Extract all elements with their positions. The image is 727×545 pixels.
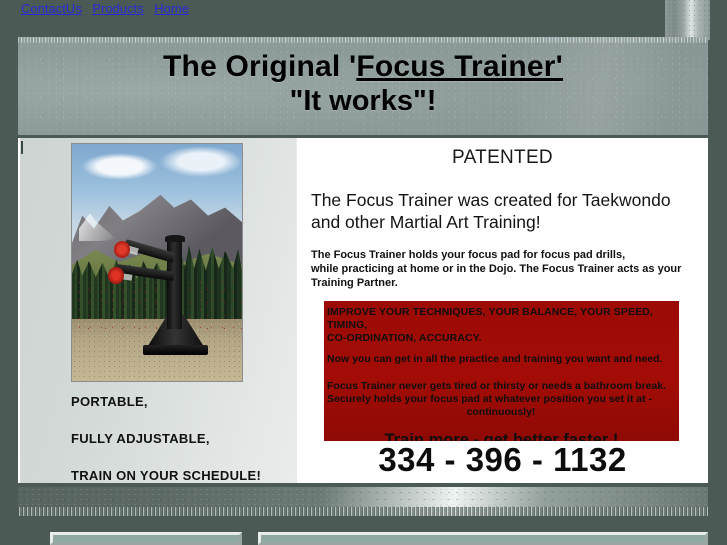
description-line2: while practicing at home or in the Dojo.… xyxy=(311,262,694,276)
product-red-focus-pad xyxy=(108,267,124,284)
feature-bullet-schedule: TRAIN ON YOUR SCHEDULE! xyxy=(71,468,291,483)
benefits-line2: CO-ORDINATION, ACCURACY. xyxy=(327,332,675,345)
benefits-line6: continuously! xyxy=(327,406,675,419)
left-content-cell: PORTABLE, FULLY ADJUSTABLE, TRAIN ON YOU… xyxy=(20,138,297,483)
benefits-block-practice: Now you can get in all the practice and … xyxy=(324,345,679,366)
product-post-cap xyxy=(165,235,185,242)
patented-label: PATENTED xyxy=(311,147,694,169)
photo-cloud xyxy=(160,146,242,177)
footer-box-left[interactable] xyxy=(50,532,242,545)
nav-link-products[interactable]: Products xyxy=(92,1,143,16)
page-title-prefix: The Original ' xyxy=(163,50,356,83)
main-content-row: PORTABLE, FULLY ADJUSTABLE, TRAIN ON YOU… xyxy=(18,138,708,483)
metal-texture-strip xyxy=(665,0,710,40)
focus-trainer-product-photo xyxy=(71,143,243,382)
product-base-plate xyxy=(143,345,208,354)
product-red-focus-pad xyxy=(114,241,130,258)
headline-line2: and other Martial Art Training! xyxy=(311,211,694,233)
benefits-line3: Now you can get in all the practice and … xyxy=(327,353,675,366)
photo-red-wildflowers xyxy=(72,277,242,334)
benefits-line4: Focus Trainer never gets tired or thirst… xyxy=(327,380,675,393)
nav-link-home[interactable]: Home xyxy=(154,1,189,16)
benefits-line5: Securely holds your focus pad at whateve… xyxy=(327,393,675,406)
bottom-metal-divider xyxy=(18,487,708,516)
page-title-line2: "It works"! xyxy=(18,85,708,118)
right-content-cell: PATENTED The Focus Trainer was created f… xyxy=(297,138,708,483)
top-navigation-bar: ContactUs Products Home xyxy=(0,0,727,36)
header-banner: The Original 'Focus Trainer' "It works"! xyxy=(18,37,708,135)
benefits-tagline: Train more - get better faster ! xyxy=(324,419,679,441)
page-title-emphasis: Focus Trainer' xyxy=(356,50,563,83)
benefits-block-reliability: Focus Trainer never gets tired or thirst… xyxy=(324,366,679,419)
description-text: The Focus Trainer holds your focus pad f… xyxy=(311,248,694,290)
headline-text: The Focus Trainer was created for Taekwo… xyxy=(311,189,694,233)
page-title-line1: The Original 'Focus Trainer' xyxy=(18,49,708,85)
photo-cloud xyxy=(82,153,157,179)
nav-links: ContactUs Products Home xyxy=(21,1,196,16)
description-line1: The Focus Trainer holds your focus pad f… xyxy=(311,248,694,262)
feature-bullet-portable: PORTABLE, xyxy=(71,394,291,409)
benefits-red-callout-box: IMPROVE YOUR TECHNIQUES, YOUR BALANCE, Y… xyxy=(324,301,679,441)
text-caret-marker xyxy=(21,141,23,154)
page-title: The Original 'Focus Trainer' "It works"! xyxy=(18,37,708,118)
footer-box-right[interactable] xyxy=(258,532,708,545)
feature-bullet-adjustable: FULLY ADJUSTABLE, xyxy=(71,431,291,446)
phone-number: 334 - 396 - 1132 xyxy=(297,441,708,479)
benefits-line1: IMPROVE YOUR TECHNIQUES, YOUR BALANCE, Y… xyxy=(327,306,675,332)
nav-link-contact-us[interactable]: ContactUs xyxy=(21,1,82,16)
footer-boxes xyxy=(0,532,727,545)
bottom-metal-hatch-texture xyxy=(18,507,708,516)
headline-line1: The Focus Trainer was created for Taekwo… xyxy=(311,189,694,211)
description-line3: Training Partner. xyxy=(311,276,694,290)
benefits-block-improve: IMPROVE YOUR TECHNIQUES, YOUR BALANCE, Y… xyxy=(324,301,679,345)
